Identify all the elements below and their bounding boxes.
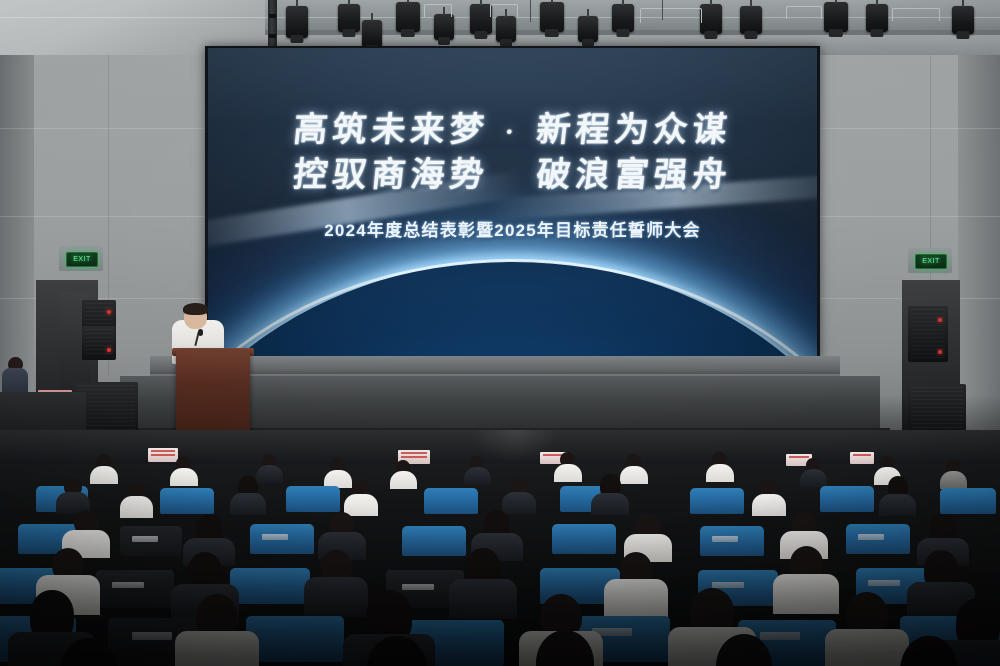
screen-text-block: 高筑未来梦 · 新程为众谋 控驭商海势 · 破浪富强舟 2024年度总结表彰暨2… bbox=[208, 108, 817, 241]
stage-light bbox=[496, 16, 516, 42]
stage-light bbox=[470, 4, 492, 34]
pa-subwoofer-right bbox=[908, 384, 966, 436]
exit-sign-left-label: EXIT bbox=[73, 256, 91, 263]
conference-hall-photo: EXIT EXIT 高筑未来梦 · 新程为众谋 控驭商海势 · 破浪富强舟 20… bbox=[0, 0, 1000, 666]
seat-number-plate bbox=[402, 584, 434, 590]
stage-light bbox=[286, 6, 308, 38]
pa-speaker-right-top bbox=[908, 306, 948, 362]
audience-area bbox=[0, 430, 1000, 666]
stage-light bbox=[700, 4, 722, 34]
stage-light bbox=[396, 2, 420, 32]
stage-light bbox=[578, 16, 598, 42]
rigging-cable bbox=[530, 0, 531, 22]
seat-number-plate bbox=[132, 632, 172, 640]
podium-microphone bbox=[198, 329, 203, 336]
auditorium-seat bbox=[690, 488, 744, 514]
seat-number-plate bbox=[112, 582, 144, 588]
table-banner bbox=[148, 448, 178, 462]
screen-headline-line-1: 高筑未来梦 · 新程为众谋 bbox=[208, 108, 817, 153]
seat-number-plate bbox=[132, 536, 158, 542]
truss-hanger bbox=[424, 4, 452, 17]
stage-light bbox=[434, 14, 454, 40]
stage-light bbox=[824, 2, 848, 32]
stage-light bbox=[740, 6, 762, 34]
rigging-cable bbox=[662, 0, 663, 20]
auditorium-seat bbox=[246, 616, 344, 662]
pa-speaker-left-mid bbox=[82, 326, 116, 360]
auditorium-seat bbox=[940, 488, 996, 514]
stage-light bbox=[362, 20, 382, 48]
auditorium-seat bbox=[160, 488, 214, 514]
truss-hanger bbox=[786, 6, 822, 19]
presenter-hair bbox=[183, 303, 208, 315]
stage-light bbox=[866, 4, 888, 32]
stage-light bbox=[612, 4, 634, 32]
headline-line-1-right: 新程为众谋 bbox=[534, 110, 733, 150]
led-screen: 高筑未来梦 · 新程为众谋 控驭商海势 · 破浪富强舟 2024年度总结表彰暨2… bbox=[208, 48, 817, 356]
exit-sign-right: EXIT bbox=[915, 254, 947, 269]
auditorium-seat bbox=[286, 486, 340, 512]
auditorium-seat bbox=[424, 488, 478, 514]
seat-number-plate bbox=[712, 536, 738, 542]
screen-headline-line-2: 控驭商海势 · 破浪富强舟 bbox=[208, 153, 817, 198]
exit-sign-right-label: EXIT bbox=[922, 258, 940, 265]
truss-hanger bbox=[490, 4, 518, 17]
stage-light bbox=[338, 4, 360, 32]
seat-number-plate bbox=[858, 534, 884, 540]
stage-light bbox=[540, 2, 564, 32]
seat-number-plate bbox=[262, 534, 288, 540]
truss-hanger bbox=[892, 8, 940, 21]
truss-hanger bbox=[640, 8, 702, 23]
table-banner bbox=[850, 452, 874, 464]
seat-number-plate bbox=[868, 580, 900, 586]
auditorium-seat bbox=[402, 526, 466, 556]
headline-line-2-left: 控驭商海势 bbox=[291, 155, 490, 195]
headline-separator: · bbox=[504, 117, 521, 146]
exit-sign-left: EXIT bbox=[66, 252, 98, 267]
headline-line-2-right: 破浪富强舟 bbox=[534, 155, 733, 195]
auditorium-seat bbox=[96, 570, 174, 608]
headline-line-1-left: 高筑未来梦 bbox=[291, 110, 490, 150]
auditorium-seat bbox=[552, 524, 616, 554]
auditorium-seat bbox=[820, 486, 874, 512]
seat-number-plate bbox=[760, 632, 800, 640]
stage-light bbox=[952, 6, 974, 34]
auditorium-seat bbox=[230, 568, 310, 604]
screen-subtitle: 2024年度总结表彰暨2025年目标责任誓师大会 bbox=[208, 216, 817, 241]
seat-number-plate bbox=[712, 582, 744, 588]
